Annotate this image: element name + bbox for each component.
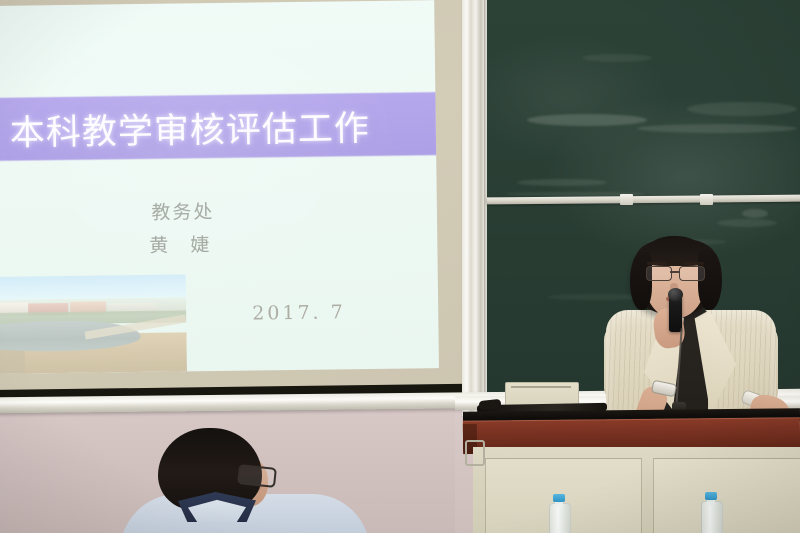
glasses-icon [645,266,707,280]
presenter-hair-left [630,252,652,310]
microphone-head-icon [668,288,683,301]
lectern [463,410,800,533]
presenter-eyebrow-left [647,262,667,265]
water-bottle [701,493,721,533]
projected-slide: 本科教学审核评估工作 教务处 黄 婕 2017. 7 [0,0,439,374]
lectern-panel-right [653,458,800,533]
slide-title: 本科教学审核评估工作 [9,96,430,157]
presenter-eyebrow-right [684,262,704,265]
screen-divider-rail [462,0,484,416]
chalkboard-rail-clip [700,194,713,205]
slide-campus-photo [0,274,187,374]
slide-content: 本科教学审核评估工作 教务处 黄 婕 2017. 7 [0,0,439,374]
lectern-hook [465,440,485,466]
photo-scene: 本科教学审核评估工作 教务处 黄 婕 2017. 7 [0,0,800,533]
water-bottle [549,495,569,533]
seated-attendee [120,428,340,533]
slide-date: 2017. 7 [252,301,346,324]
glasses-icon [237,464,277,488]
projection-screen: 本科教学审核评估工作 教务处 黄 婕 2017. 7 [0,0,483,402]
chalkboard-rail-clip [620,194,633,205]
slide-subtitle-department: 教务处 [0,194,437,227]
slide-subtitle-presenter-name: 黄 婕 [0,227,437,260]
